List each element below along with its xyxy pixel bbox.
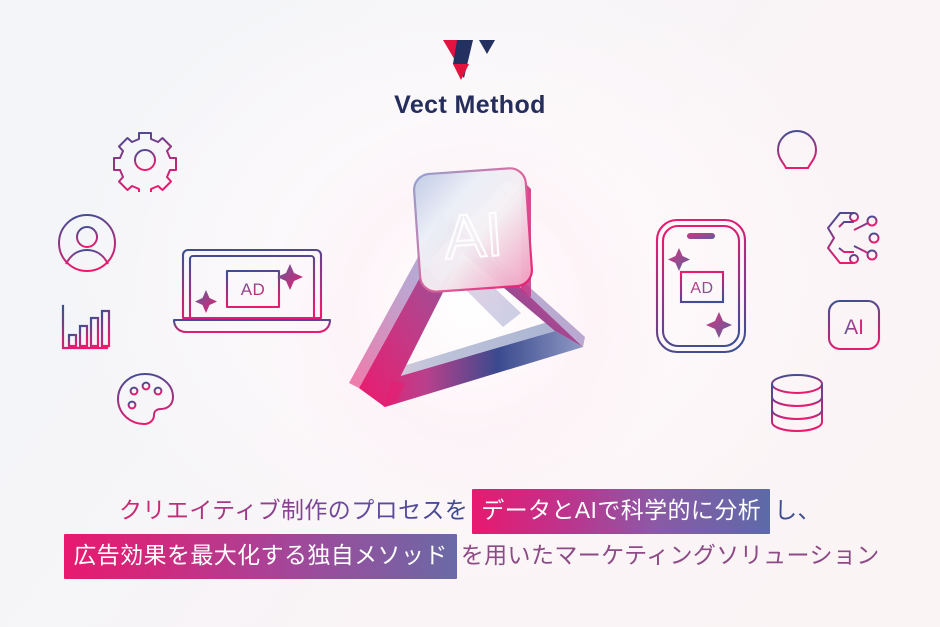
copy-line-2: 広告効果を最大化する独自メソッドを用いたマーケティングソリューション: [0, 534, 940, 579]
bar-chart-icon: [57, 302, 113, 354]
copy-line2-after: を用いたマーケティングソリューション: [461, 542, 880, 568]
database-icon: [768, 372, 826, 434]
copy-line1-highlight: データとAIで科学的に分析: [472, 489, 770, 534]
copy-line-1: クリエイティブ制作のプロセスをデータとAIで科学的に分析し、: [0, 489, 940, 534]
lightbulb-icon: [773, 128, 821, 190]
ai-badge-label: AI: [844, 316, 864, 339]
svg-text:AD: AD: [690, 280, 713, 297]
smartphone-ad-icon: AD: [653, 216, 749, 356]
svg-text:AD: AD: [241, 280, 266, 299]
copy-line1-before: クリエイティブ制作のプロセスを: [119, 497, 468, 523]
user-avatar-icon: [56, 212, 118, 274]
copy-line2-highlight: 広告効果を最大化する独自メソッド: [64, 534, 456, 579]
copy-line1-after: し、: [774, 497, 821, 523]
brand-name: Vect Method: [0, 93, 940, 118]
palette-icon: [115, 370, 177, 428]
centerpiece-graphic: AI: [345, 145, 615, 435]
brand-header: Vect Method: [0, 34, 940, 118]
gear-icon: [113, 128, 177, 192]
hero-copy: クリエイティブ制作のプロセスをデータとAIで科学的に分析し、 広告効果を最大化す…: [0, 489, 940, 580]
hero-banner: Vect Method: [0, 0, 940, 627]
ai-brain-circuit-icon: [824, 208, 886, 268]
laptop-ad-icon: AD: [170, 240, 334, 342]
ai-badge-icon: AI: [826, 298, 882, 352]
vect-v-mark-icon: [435, 34, 505, 82]
